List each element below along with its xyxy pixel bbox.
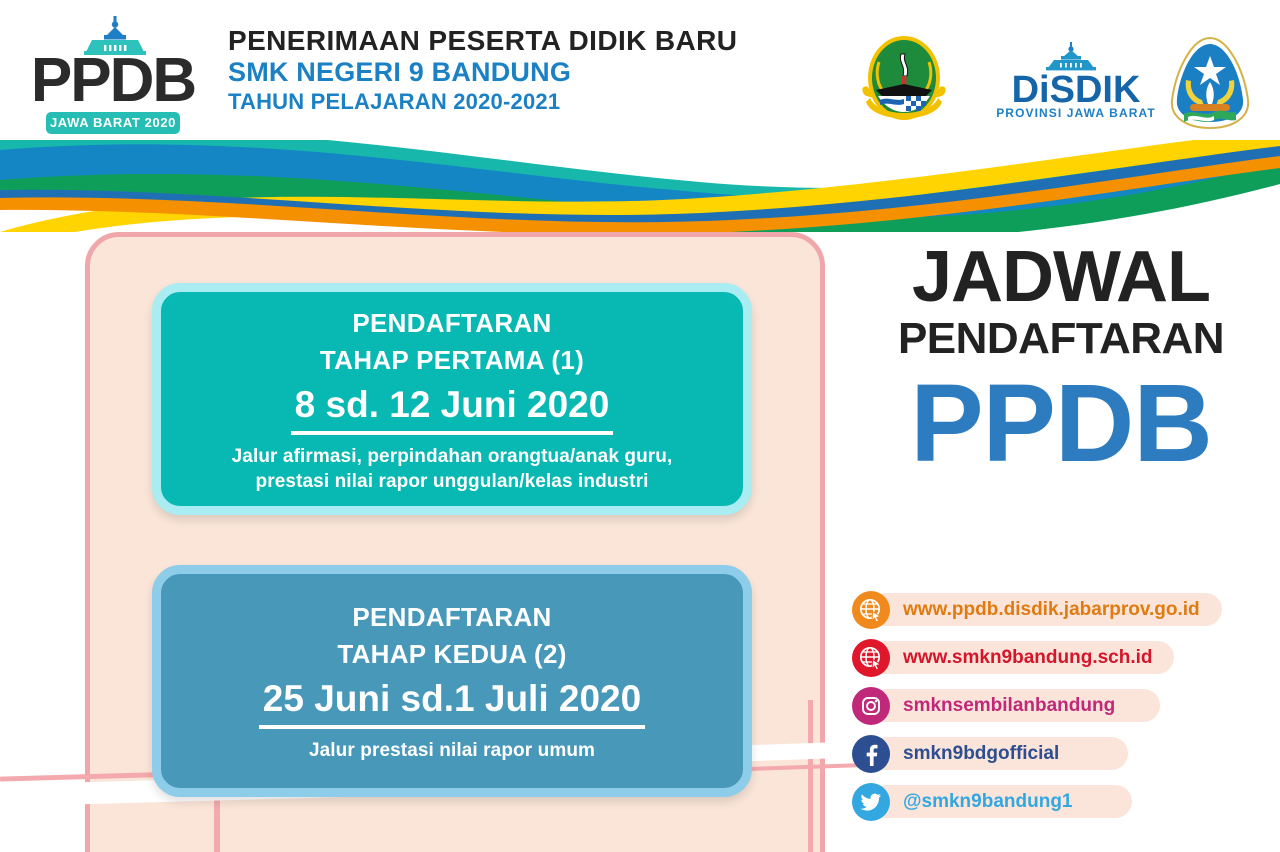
contact-row-ppdb-website[interactable]: www.ppdb.disdik.jabarprov.go.id [852,589,1272,630]
stage-1-title-line2: TAHAP PERTAMA (1) [320,342,584,379]
facebook-icon [852,735,890,773]
smkn9-bandung-school-logo [1162,34,1258,134]
stage-1-card: PENDAFTARAN TAHAP PERTAMA (1) 8 sd. 12 J… [152,283,752,515]
headline-pendaftaran: PENDAFTARAN [855,314,1267,364]
ppdb-logo: PPDB JAWA BARAT 2020 [18,16,208,128]
globe-cursor-icon [852,639,890,677]
stage-1-note-line1: Jalur afirmasi, perpindahan orangtua/ana… [232,444,673,469]
contact-row-instagram[interactable]: smknsembilanbandung [852,685,1272,726]
stage-1-note-line2: prestasi nilai rapor unggulan/kelas indu… [256,469,649,494]
stage-2-note-line1: Jalur prestasi nilai rapor umum [309,738,595,763]
contact-label: smknsembilanbandung [903,695,1115,717]
instagram-icon [852,687,890,725]
disdik-logo: DiSDIK PROVINSI JAWA BARAT [986,40,1166,124]
header-title-block: PENERIMAAN PESERTA DIDIK BARU SMK NEGERI… [228,25,737,115]
stage-2-card: PENDAFTARAN TAHAP KEDUA (2) 25 Juni sd.1… [152,565,752,797]
poster-header: PPDB JAWA BARAT 2020 PENERIMAAN PESERTA … [0,0,1280,140]
contact-row-facebook[interactable]: smkn9bdgofficial [852,733,1272,774]
ppdb-wordmark: PPDB [18,50,208,112]
headline-block: JADWAL PENDAFTARAN PPDB [855,240,1267,480]
contact-label: smkn9bdgofficial [903,743,1059,765]
stage-2-title-line1: PENDAFTARAN [352,599,551,636]
contact-label: www.ppdb.disdik.jabarprov.go.id [903,599,1200,621]
disdik-tagline: PROVINSI JAWA BARAT [996,106,1156,120]
west-java-province-emblem [856,32,952,130]
header-logo-group: DiSDIK PROVINSI JAWA BARAT [846,32,1266,132]
header-title-line2: SMK NEGERI 9 BANDUNG [228,57,737,88]
contact-label: www.smkn9bandung.sch.id [903,647,1153,669]
wave-svg [0,128,1280,232]
stage-2-title-line2: TAHAP KEDUA (2) [337,636,566,673]
decor-pink-line-vertical-right [808,700,813,852]
stage-1-date: 8 sd. 12 Juni 2020 [291,381,614,435]
contact-row-twitter[interactable]: @smkn9bandung1 [852,781,1272,822]
disdik-wordmark: DiSDIK [1012,69,1141,111]
contact-list: www.ppdb.disdik.jabarprov.go.id www.smkn… [852,589,1272,829]
contact-row-school-website[interactable]: www.smkn9bandung.sch.id [852,637,1272,678]
globe-cursor-icon [852,591,890,629]
contact-label: @smkn9bandung1 [903,791,1073,813]
header-title-line1: PENERIMAAN PESERTA DIDIK BARU [228,25,737,57]
headline-ppdb: PPDB [855,368,1267,480]
ppdb-year-pill: JAWA BARAT 2020 [46,112,180,134]
twitter-icon [852,783,890,821]
decorative-wave-band [0,128,1280,232]
headline-jadwal: JADWAL [855,240,1267,314]
stage-2-date: 25 Juni sd.1 Juli 2020 [259,675,645,729]
disdik-logo-svg: DiSDIK PROVINSI JAWA BARAT [986,40,1166,124]
stage-1-title-line1: PENDAFTARAN [352,305,551,342]
header-title-line3: TAHUN PELAJARAN 2020-2021 [228,88,737,115]
